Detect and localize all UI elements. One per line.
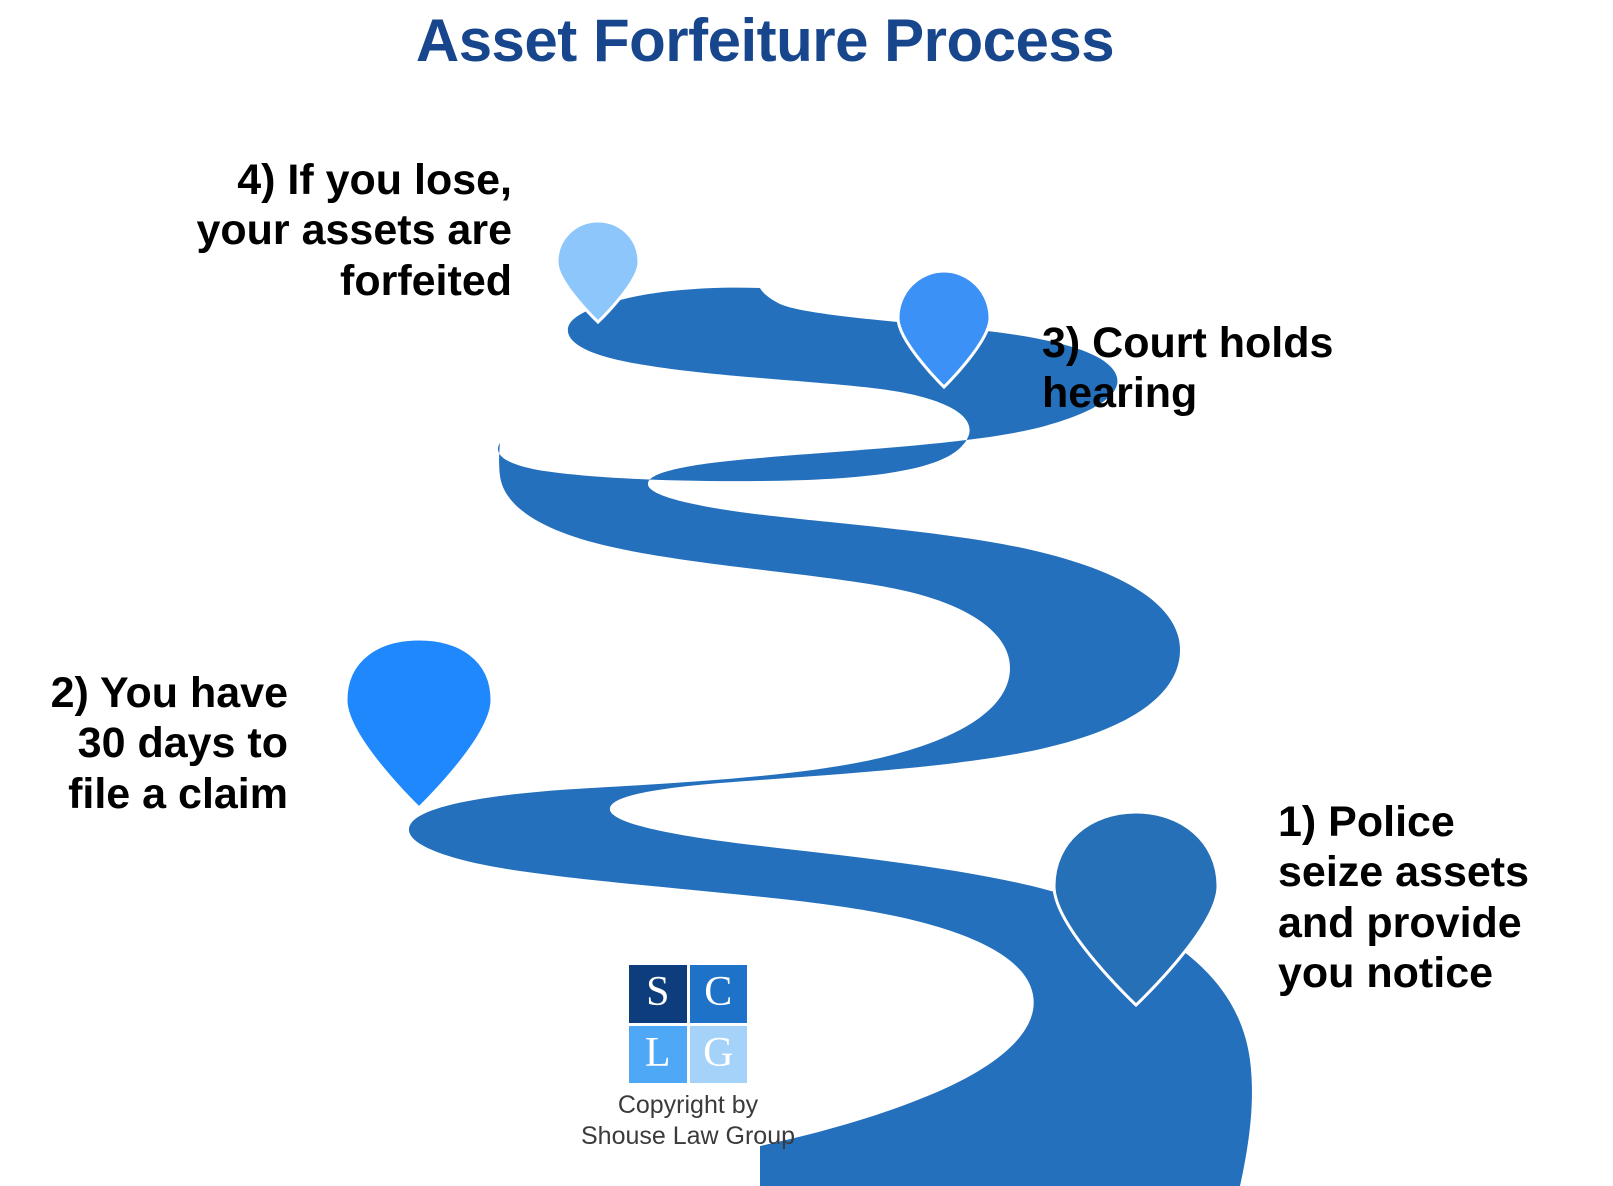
logo-letter-c: C (690, 965, 748, 1023)
step-label-1: 1) Police seize assets and provide you n… (1278, 797, 1598, 998)
asset-forfeiture-infographic: Asset Forfeiture Process 1) Police seize… (0, 0, 1613, 1186)
sclg-logo: S C L G (629, 965, 747, 1083)
logo-letter-g: G (690, 1026, 748, 1084)
step-label-4: 4) If you lose, your assets are forfeite… (100, 155, 512, 306)
logo-letter-s: S (629, 965, 687, 1023)
map-pin-step-2 (346, 639, 492, 808)
logo-block: S C L G Copyright by Shouse Law Group (563, 965, 813, 1152)
logo-letter-l: L (629, 1026, 687, 1084)
winding-road-path (409, 288, 1252, 1186)
step-label-3: 3) Court holds hearing (1042, 318, 1442, 419)
step-label-2: 2) You have 30 days to file a claim (0, 668, 288, 819)
copyright-text: Copyright by Shouse Law Group (563, 1090, 813, 1152)
